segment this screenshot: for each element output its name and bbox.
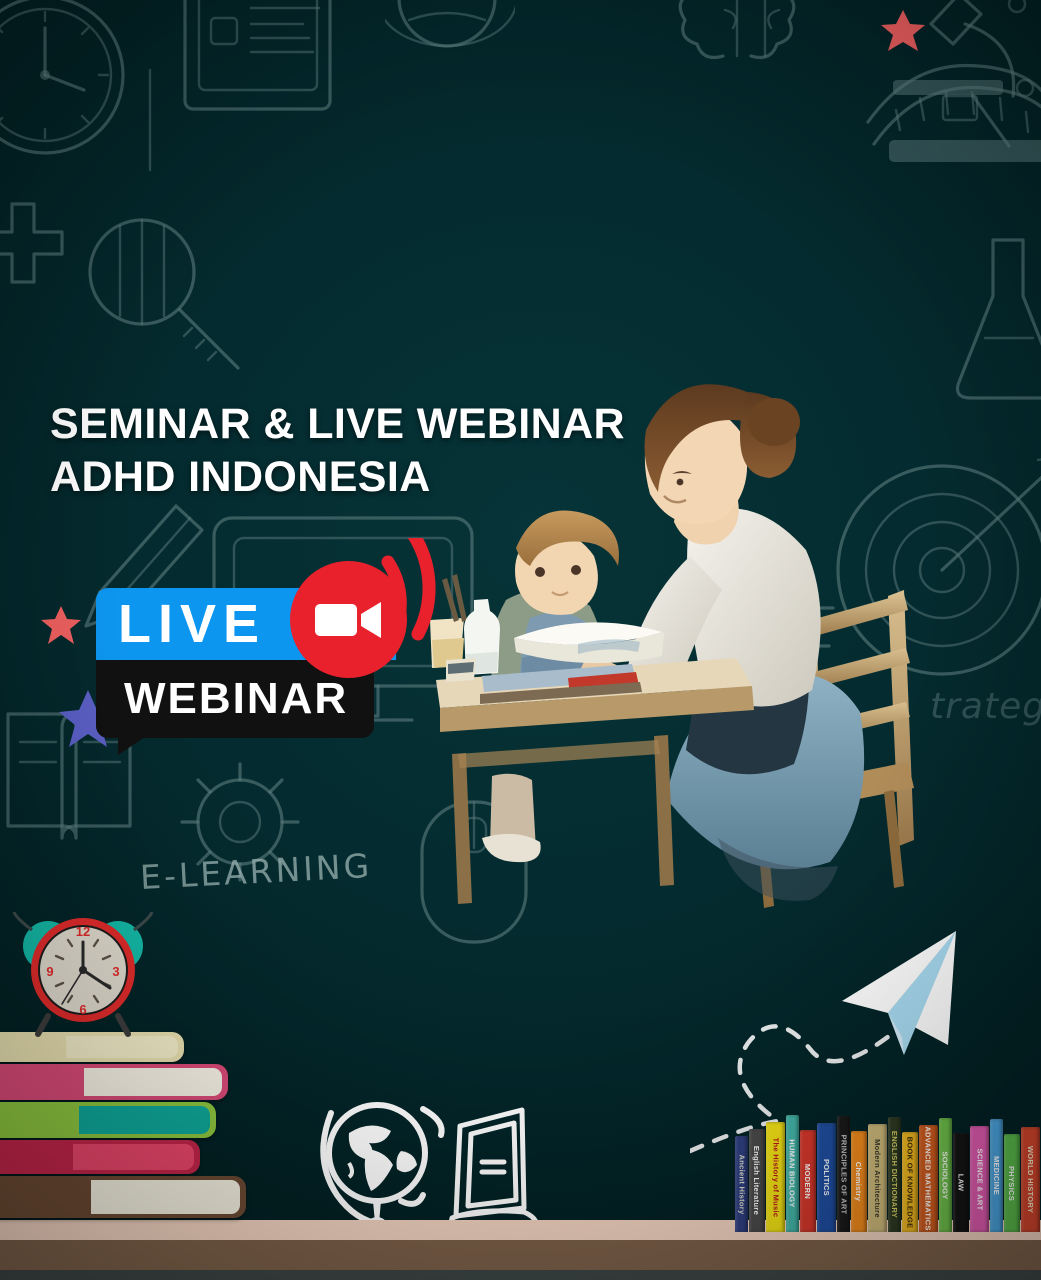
record-circle[interactable]	[290, 561, 407, 678]
video-camera-icon	[315, 600, 383, 640]
book-pink	[0, 1064, 228, 1100]
webinar-label: WEBINAR	[96, 677, 348, 721]
book-spine: PRINCIPLES OF ART	[837, 1116, 850, 1232]
book-spine-title: HUMAN BIOLOGY	[788, 1139, 797, 1207]
magnifier-doodle	[80, 210, 260, 390]
svg-text:12: 12	[76, 924, 90, 939]
book-pages	[73, 1144, 194, 1170]
svg-text:6: 6	[79, 1002, 86, 1017]
svg-text:9: 9	[46, 964, 53, 979]
globe-doodle	[385, 0, 515, 68]
alarm-clock-icon: 12 3 6 9	[12, 912, 157, 1042]
book-spine: Modern Architecture	[868, 1124, 887, 1232]
live-label: LIVE	[96, 597, 266, 651]
book-spine: WORLD HISTORY	[1021, 1127, 1040, 1232]
badge-tail	[118, 735, 148, 755]
book-spine-title: SOCIOLOGY	[941, 1151, 950, 1199]
book-brown-bottom	[0, 1176, 246, 1218]
book-spine-title: WORLD HISTORY	[1026, 1146, 1035, 1213]
book-spine-title: The History of Music	[771, 1137, 780, 1217]
shelf-body	[0, 1240, 1041, 1272]
book-spine-title: Modern Architecture	[873, 1139, 882, 1218]
notebook-doodle	[140, 60, 260, 180]
book-spine: POLITICS	[817, 1123, 836, 1232]
book-red	[0, 1140, 200, 1174]
paper-plane-icon	[842, 931, 956, 1055]
book-spine-title: LAW	[957, 1174, 966, 1192]
book-spine: BOOK OF KNOWLEDGE	[902, 1132, 918, 1232]
book-spine-title: BOOK OF KNOWLEDGE	[906, 1136, 915, 1228]
book-spine: The History of Music	[766, 1122, 785, 1232]
svg-text:3: 3	[112, 964, 119, 979]
book-spine: English Literature	[749, 1129, 765, 1232]
brain-doodle	[665, 0, 855, 104]
book-stack	[0, 1032, 258, 1220]
book-spine: MODERN	[800, 1130, 816, 1232]
book-spine-title: Ancient History	[737, 1154, 746, 1214]
book-pages	[84, 1068, 222, 1096]
book-spine: SOCIOLOGY	[939, 1118, 952, 1232]
book-spine: MEDICINE	[990, 1119, 1003, 1232]
book-teal	[0, 1102, 216, 1138]
book-spine: LAW	[953, 1133, 969, 1232]
book-spine-title: MEDICINE	[992, 1156, 1001, 1195]
poster-canvas: SEMINAR & LIVE WEBINAR ADHD INDONESIA LI…	[0, 0, 1041, 1280]
book-spine-title: ENGLISH DICTIONARY	[890, 1131, 899, 1218]
shelf-books: Ancient HistoryEnglish LiteratureThe His…	[735, 1112, 1041, 1232]
book-spine-title: ADVANCED MATHEMATICS	[924, 1126, 933, 1230]
star-red-icon	[40, 604, 82, 646]
book-spine: ADVANCED MATHEMATICS	[919, 1125, 938, 1232]
book-spine-title: SCIENCE & ART	[975, 1148, 984, 1210]
clock-doodle	[0, 0, 160, 180]
shelf-shadow	[0, 1270, 1041, 1280]
book-spine: PHYSICS	[1004, 1134, 1020, 1232]
book-spine-title: English Literature	[753, 1146, 762, 1215]
strategy-chalk-text: trategy	[930, 686, 1041, 727]
ink-pot	[446, 658, 476, 682]
ruler-doodle	[860, 40, 1041, 170]
book-spine-title: Chemistry	[855, 1162, 864, 1201]
book-spine-title: MODERN	[804, 1163, 813, 1198]
page-title: SEMINAR & LIVE WEBINAR ADHD INDONESIA	[50, 398, 625, 504]
book-spine: SCIENCE & ART	[970, 1126, 989, 1232]
book-spine: Chemistry	[851, 1131, 867, 1232]
book-spine-title: PRINCIPLES OF ART	[839, 1134, 848, 1214]
book-spine-title: PHYSICS	[1008, 1165, 1017, 1200]
book-spine: HUMAN BIOLOGY	[786, 1115, 799, 1232]
book-spine-title: POLITICS	[822, 1159, 831, 1196]
book-spine: ENGLISH DICTIONARY	[888, 1117, 901, 1232]
book-spine: Ancient History	[735, 1136, 748, 1232]
book-pages	[79, 1106, 210, 1134]
book-pages	[91, 1180, 240, 1214]
plus-doodle	[0, 194, 84, 304]
